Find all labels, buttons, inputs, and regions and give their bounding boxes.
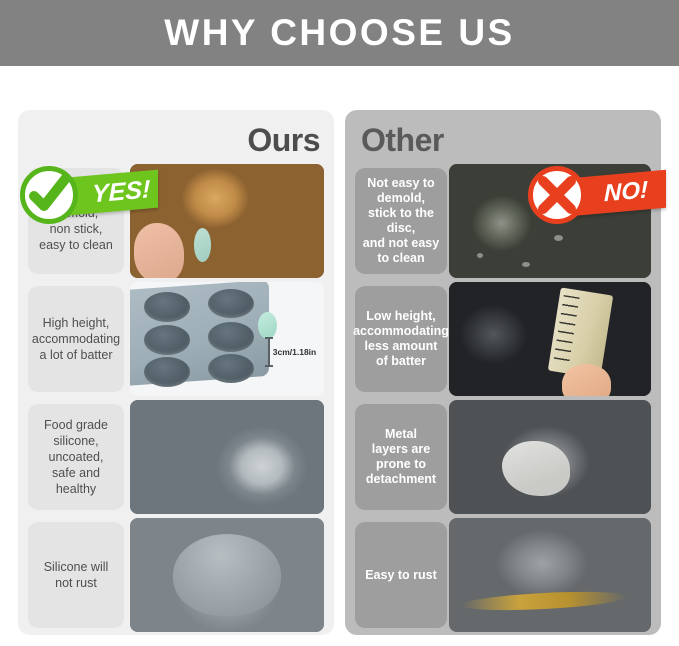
ours-panel-title: Ours xyxy=(247,122,320,159)
metal-pan-tape-measure-photo xyxy=(449,282,651,396)
other-row-4-media xyxy=(449,518,651,632)
ours-row-3-media xyxy=(130,400,324,514)
other-row-4: Easy to rust xyxy=(345,518,661,632)
other-row-2-media xyxy=(449,282,651,396)
other-row-1-label: Not easy todemold,stick to the disc,and … xyxy=(355,168,447,274)
height-measure-annotation: 3cm/1.18in xyxy=(268,337,316,367)
pan-handle-tab xyxy=(258,312,277,339)
gray-silicone-mold-photo xyxy=(130,518,324,632)
check-mark-icon xyxy=(20,166,78,224)
silicone-tab-detail xyxy=(194,228,211,262)
ours-row-3: Food gradesilicone,uncoated,safe and hea… xyxy=(18,400,334,514)
water-droplet xyxy=(554,235,563,241)
ours-row-2-media: 3cm/1.18in xyxy=(130,282,324,396)
silicone-cavity-closeup-photo xyxy=(130,400,324,514)
water-droplet xyxy=(477,253,483,258)
pan-cavity xyxy=(208,322,255,352)
other-row-3: Metallayers areprone todetachment xyxy=(345,400,661,514)
hand-thumb xyxy=(562,364,610,396)
comparison-board: Ours Easy to demold,non stick,easy to cl… xyxy=(0,66,679,646)
other-row-4-label: Easy to rust xyxy=(355,522,447,628)
water-droplet xyxy=(522,262,530,267)
pan-cavity xyxy=(144,292,191,322)
other-row-3-label: Metallayers areprone todetachment xyxy=(355,404,447,510)
page-title: WHY CHOOSE US xyxy=(164,12,514,54)
ours-row-3-label: Food gradesilicone,uncoated,safe and hea… xyxy=(28,404,124,510)
pan-cavity xyxy=(144,357,191,387)
ours-row-4-media xyxy=(130,518,324,632)
pan-cavity xyxy=(208,354,255,384)
other-panel-title: Other xyxy=(361,122,444,159)
other-row-3-media xyxy=(449,400,651,514)
page-header: WHY CHOOSE US xyxy=(0,0,679,66)
other-rows: Not easy todemold,stick to the disc,and … xyxy=(345,164,661,632)
measure-label: 3cm/1.18in xyxy=(273,347,316,357)
ours-row-2: High height,accommodatinga lot of batter xyxy=(18,282,334,396)
rusty-metal-pan-photo xyxy=(449,518,651,632)
other-row-2: Low height,accommodatingless amountof ba… xyxy=(345,282,661,396)
no-badge: NO! xyxy=(522,164,672,226)
ours-row-2-label: High height,accommodatinga lot of batter xyxy=(28,286,124,392)
ours-row-4-label: Silicone willnot rust xyxy=(28,522,124,628)
peeling-coating-photo xyxy=(449,400,651,514)
ours-row-4: Silicone willnot rust xyxy=(18,518,334,632)
six-cavity-silicone-pan-photo: 3cm/1.18in xyxy=(130,282,324,396)
cross-mark-icon xyxy=(528,166,586,224)
yes-badge: YES! xyxy=(14,164,164,230)
measure-bar-icon xyxy=(268,337,270,367)
pan-cavity xyxy=(144,325,191,355)
ours-rows: Easy to demold,non stick,easy to clean H… xyxy=(18,164,334,632)
other-row-2-label: Low height,accommodatingless amountof ba… xyxy=(355,286,447,392)
